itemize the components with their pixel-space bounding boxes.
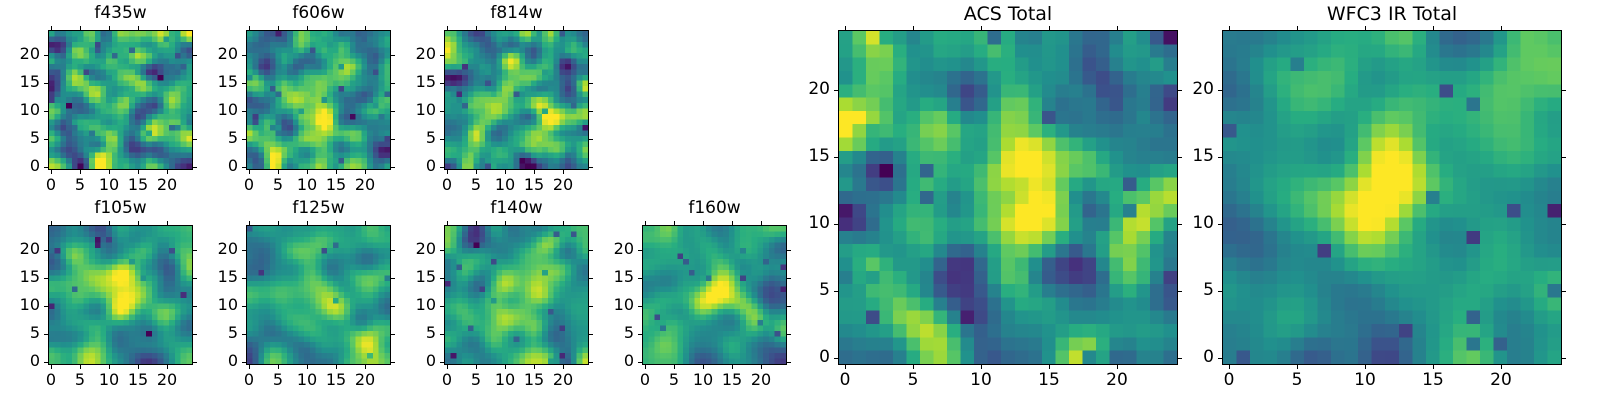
xtick-mark-top [1297,26,1298,30]
ytick-label: 5 [1172,282,1214,299]
xtick-mark [1365,365,1366,369]
xtick-mark-top [1433,26,1434,30]
panel-wfc3_ir_total: WFC3 IR Total0510152005101520 [0,0,1600,400]
xtick-mark-top [1365,26,1366,30]
ytick-mark [1218,224,1222,225]
ytick-mark [1218,157,1222,158]
xtick-label: 15 [1413,372,1453,389]
xtick-label: 0 [1209,372,1249,389]
ytick-mark [1218,358,1222,359]
ytick-label: 15 [1172,148,1214,165]
xtick-mark [1501,365,1502,369]
xtick-label: 5 [1277,372,1317,389]
ytick-label: 0 [1172,349,1214,366]
xtick-mark [1297,365,1298,369]
ytick-mark-right [1562,291,1566,292]
xtick-mark-top [1501,26,1502,30]
ytick-mark [1218,90,1222,91]
xtick-label: 20 [1481,372,1521,389]
ytick-mark-right [1562,157,1566,158]
figure-canvas: f435w0510152005101520f606w05101520051015… [0,0,1600,400]
ytick-label: 10 [1172,215,1214,232]
panel-title-wfc3_ir_total: WFC3 IR Total [1222,5,1562,24]
heatmap-image-wfc3_ir_total [1223,31,1561,364]
ytick-mark-right [1562,358,1566,359]
ytick-mark-right [1562,224,1566,225]
xtick-mark [1229,365,1230,369]
ytick-mark [1218,291,1222,292]
xtick-mark [1433,365,1434,369]
xtick-mark-top [1229,26,1230,30]
ytick-label: 20 [1172,81,1214,98]
heatmap-axes-wfc3_ir_total [1222,30,1562,365]
xtick-label: 10 [1345,372,1385,389]
ytick-mark-right [1562,90,1566,91]
